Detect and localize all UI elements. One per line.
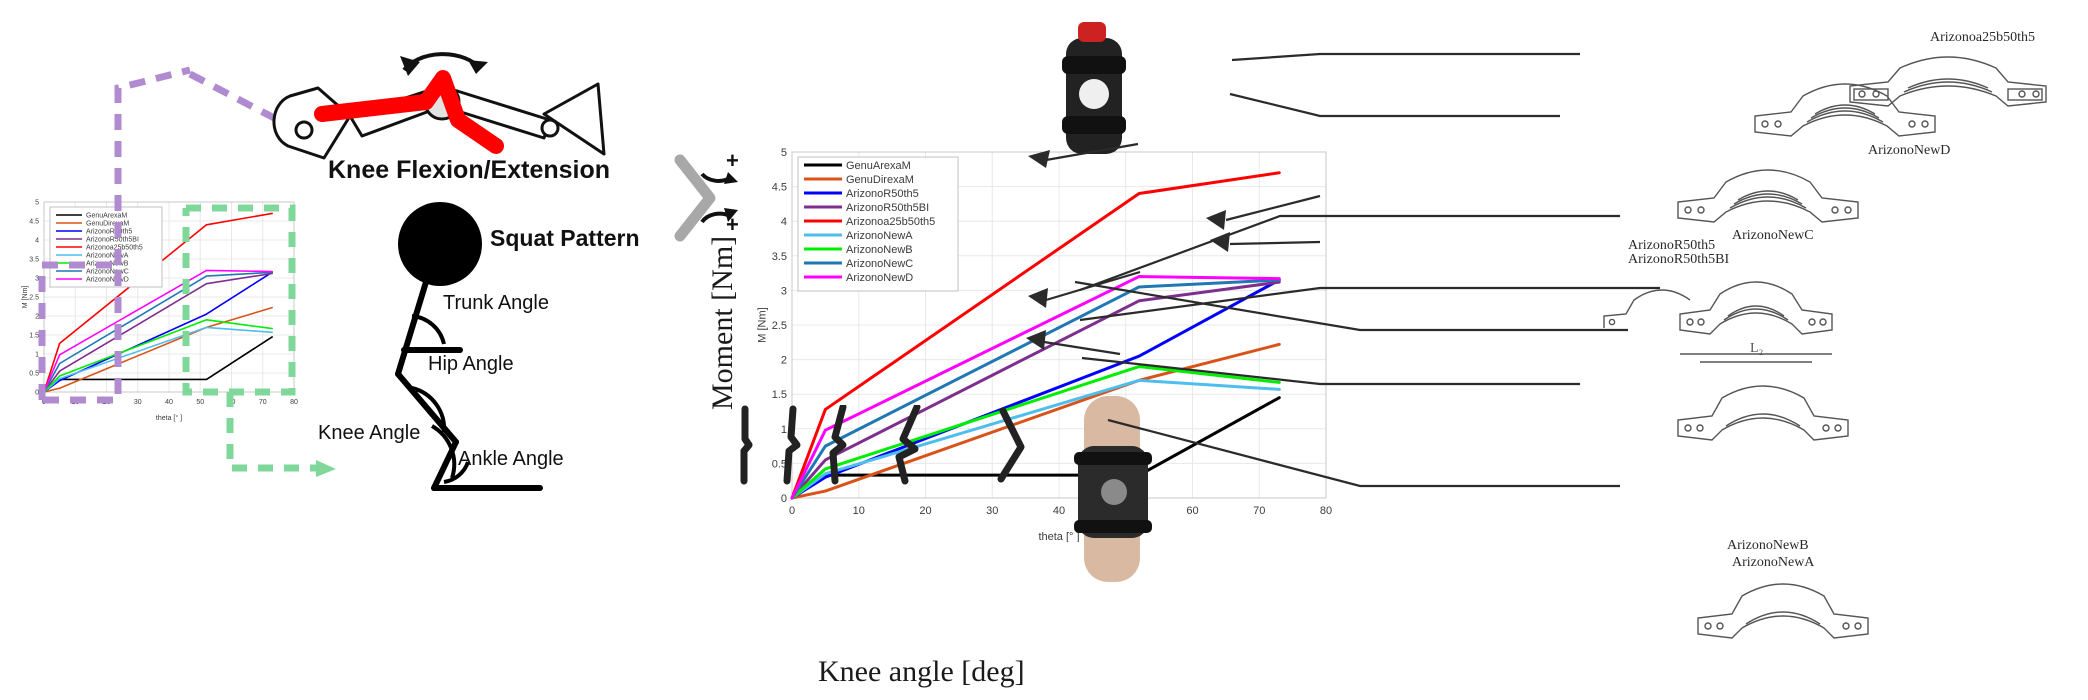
svg-text:M [Nm]: M [Nm]	[757, 307, 769, 342]
cad-label-arizononewc: ArizonoNewC	[1732, 228, 1814, 244]
svg-text:20: 20	[919, 505, 931, 517]
svg-text:ArizonoNewD: ArizonoNewD	[86, 277, 129, 284]
squat-pattern-title: Squat Pattern	[490, 225, 640, 252]
knee-angle-label: Knee Angle	[318, 422, 420, 445]
svg-text:ArizonoNewC: ArizonoNewC	[86, 269, 129, 276]
svg-text:80: 80	[1320, 505, 1332, 517]
svg-text:0.5: 0.5	[29, 371, 39, 378]
svg-text:ArizonoR50th5: ArizonoR50th5	[86, 229, 132, 236]
svg-text:4.5: 4.5	[772, 182, 787, 194]
svg-text:70: 70	[259, 399, 267, 406]
knee-brace-photo-bottom	[1062, 390, 1162, 590]
svg-text:4.5: 4.5	[29, 219, 39, 226]
cad-label-arizononewa: ArizonoNewA	[1732, 555, 1814, 571]
svg-text:ArizonoNewA: ArizonoNewA	[86, 253, 129, 260]
svg-text:4: 4	[781, 216, 787, 228]
moment-plus-bottom: +	[726, 212, 739, 238]
svg-text:1.5: 1.5	[29, 333, 39, 340]
svg-text:5: 5	[35, 200, 39, 207]
svg-text:GenuDirexaM: GenuDirexaM	[846, 174, 914, 186]
svg-text:0: 0	[35, 390, 39, 397]
svg-text:GenuDirexaM: GenuDirexaM	[86, 221, 129, 228]
cad-arizononewb	[1668, 382, 1858, 458]
dim-l2-text: L₂	[1750, 341, 1764, 356]
svg-text:2: 2	[35, 314, 39, 321]
svg-text:2.5: 2.5	[29, 295, 39, 302]
svg-text:20: 20	[103, 399, 111, 406]
svg-text:ArizonoNewB: ArizonoNewB	[86, 261, 129, 268]
cad-label-arizonoa25b50th5: Arizonoa25b50th5	[1930, 30, 2035, 46]
squat-phase-strip	[735, 405, 1035, 485]
svg-text:4: 4	[35, 238, 39, 245]
trunk-angle-label: Trunk Angle	[443, 292, 549, 315]
svg-text:60: 60	[1186, 505, 1198, 517]
small-moment-chart: 0102030405060708000.511.522.533.544.55th…	[14, 196, 304, 422]
svg-text:40: 40	[165, 399, 173, 406]
cad-label-arizononewd: ArizonoNewD	[1868, 143, 1950, 159]
svg-text:2.5: 2.5	[772, 320, 787, 332]
knee-brace-photo-top	[1048, 20, 1140, 160]
big-chart-ylabel: Moment [Nm]	[706, 236, 740, 410]
cad-label-arizononewb: ArizonoNewB	[1727, 538, 1809, 554]
cad-arizononewa	[1688, 580, 1878, 656]
svg-text:0: 0	[42, 399, 46, 406]
svg-text:GenuArexaM: GenuArexaM	[86, 213, 127, 220]
svg-text:0: 0	[789, 505, 795, 517]
svg-text:ArizonoNewB: ArizonoNewB	[846, 244, 913, 256]
svg-text:3.5: 3.5	[29, 257, 39, 264]
svg-text:3: 3	[35, 276, 39, 283]
svg-text:3.5: 3.5	[772, 251, 787, 263]
svg-text:theta [° ]: theta [° ]	[156, 414, 182, 422]
svg-text:Arizonoa25b50th5: Arizonoa25b50th5	[846, 216, 935, 228]
moment-plus-top: +	[726, 148, 739, 174]
svg-text:50: 50	[196, 399, 204, 406]
svg-text:ArizonoNewD: ArizonoNewD	[846, 272, 913, 284]
svg-text:80: 80	[290, 399, 298, 406]
svg-text:1: 1	[35, 352, 39, 359]
svg-text:ArizonoNewA: ArizonoNewA	[846, 230, 913, 242]
cad-label-arizonor50th5bi: ArizonoR50th5BI	[1628, 252, 1729, 268]
svg-text:ArizonoR50th5BI: ArizonoR50th5BI	[846, 202, 929, 214]
svg-text:M [Nm]: M [Nm]	[22, 286, 29, 309]
svg-text:Arizonoa25b50th5: Arizonoa25b50th5	[86, 245, 143, 252]
svg-text:0: 0	[781, 493, 787, 505]
svg-text:ArizonoNewC: ArizonoNewC	[846, 258, 913, 270]
svg-text:10: 10	[71, 399, 79, 406]
svg-text:ArizonoR50th5BI: ArizonoR50th5BI	[86, 237, 139, 244]
cad-arizonor50th5-pair: L₂	[1600, 268, 1870, 368]
svg-text:30: 30	[986, 505, 998, 517]
svg-text:2: 2	[781, 355, 787, 367]
svg-text:5: 5	[781, 147, 787, 159]
small-chart-svg: 0102030405060708000.511.522.533.544.55th…	[14, 196, 304, 422]
svg-text:GenuArexaM: GenuArexaM	[846, 160, 911, 172]
ankle-angle-label: Ankle Angle	[458, 448, 564, 471]
svg-text:3: 3	[781, 285, 787, 297]
hip-angle-label: Hip Angle	[428, 353, 514, 376]
svg-text:70: 70	[1253, 505, 1265, 517]
svg-text:1.5: 1.5	[772, 389, 787, 401]
svg-text:ArizonoR50th5: ArizonoR50th5	[846, 188, 919, 200]
big-chart-xlabel: Knee angle [deg]	[818, 655, 1025, 689]
svg-text:30: 30	[134, 399, 142, 406]
svg-text:10: 10	[853, 505, 865, 517]
svg-text:60: 60	[228, 399, 236, 406]
knee-flexion-title: Knee Flexion/Extension	[328, 156, 610, 185]
